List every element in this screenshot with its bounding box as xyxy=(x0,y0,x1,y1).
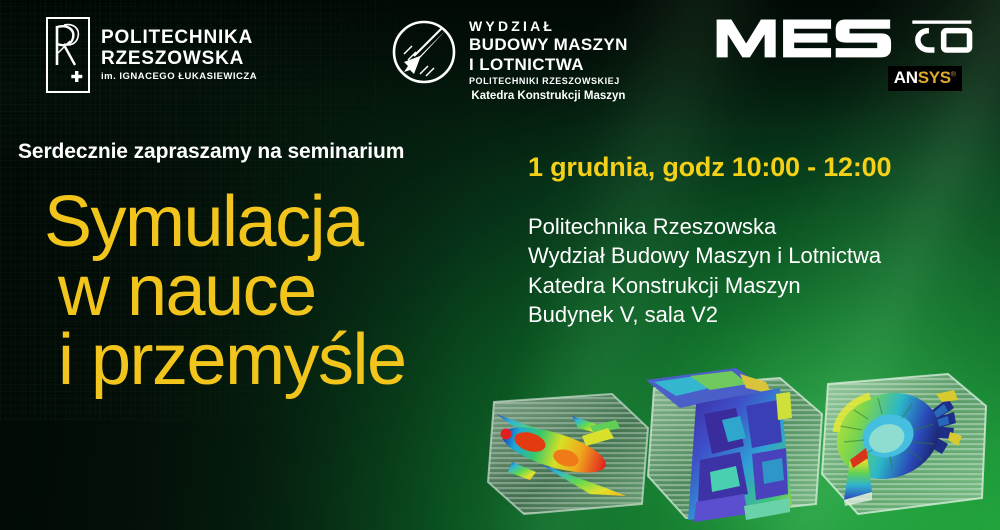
university-line-1: POLITECHNIKA xyxy=(101,27,257,48)
mesco-wordmark-icon xyxy=(710,14,978,62)
politechnika-rzeszowska-logo: POLITECHNIKA RZESZOWSKA im. IGNACEGO ŁUK… xyxy=(46,17,257,93)
wydzial-budowy-maszyn-i-lotnictwa-logo: WYDZIAŁ BUDOWY MASZYN I LOTNICTWA POLITE… xyxy=(390,18,628,102)
faculty-name: WYDZIAŁ BUDOWY MASZYN I LOTNICTWA POLITE… xyxy=(469,18,628,102)
seminar-title-line-2: w nauce xyxy=(58,257,406,326)
logo-row: POLITECHNIKA RZESZOWSKA im. IGNACEGO ŁUK… xyxy=(0,0,1000,112)
turbomachinery-simulation xyxy=(810,358,1000,530)
cfd-aircraft-simulation xyxy=(472,372,668,530)
university-line-2: RZESZOWSKA xyxy=(101,48,257,69)
venue-line-4: Budynek V, sala V2 xyxy=(528,300,881,329)
simulation-image-strip xyxy=(472,350,1000,530)
ansys-text-sys: SYS xyxy=(918,68,951,87)
faculty-line-3: I LOTNICTWA xyxy=(469,55,628,75)
university-name: POLITECHNIKA RZESZOWSKA im. IGNACEGO ŁUK… xyxy=(101,27,257,83)
faculty-line-1: WYDZIAŁ xyxy=(469,18,628,35)
ansys-badge: ANSYS® xyxy=(888,66,962,91)
venue-line-2: Wydział Budowy Maszyn i Lotnictwa xyxy=(528,241,881,270)
seminar-title: Symulacja w nauce i przemyśle xyxy=(44,188,406,395)
faculty-line-2: BUDOWY MASZYN xyxy=(469,35,628,55)
airplane-circle-icon xyxy=(390,18,458,86)
fea-structure-simulation xyxy=(640,354,836,530)
faculty-line-4: POLITECHNIKI RZESZOWSKIEJ xyxy=(469,76,628,86)
seminar-title-line-1: Symulacja xyxy=(44,188,406,257)
university-line-3: im. IGNACEGO ŁUKASIEWICZA xyxy=(101,72,257,83)
event-datetime: 1 grudnia, godz 10:00 - 12:00 xyxy=(528,152,891,183)
event-venue: Politechnika Rzeszowska Wydział Budowy M… xyxy=(528,212,881,329)
seminar-title-line-3: i przemyśle xyxy=(58,326,406,395)
ansys-text-an: AN xyxy=(894,68,918,87)
faculty-line-5: Katedra Konstrukcji Maszyn xyxy=(469,90,628,102)
registered-mark: ® xyxy=(951,72,956,79)
pr-monogram-icon xyxy=(46,17,90,93)
mesco-ansys-logo: ANSYS® xyxy=(710,14,978,91)
venue-line-1: Politechnika Rzeszowska xyxy=(528,212,881,241)
invitation-intro: Serdecznie zapraszamy na seminarium xyxy=(18,140,404,164)
seminar-invitation-banner: POLITECHNIKA RZESZOWSKA im. IGNACEGO ŁUK… xyxy=(0,0,1000,530)
venue-line-3: Katedra Konstrukcji Maszyn xyxy=(528,271,881,300)
